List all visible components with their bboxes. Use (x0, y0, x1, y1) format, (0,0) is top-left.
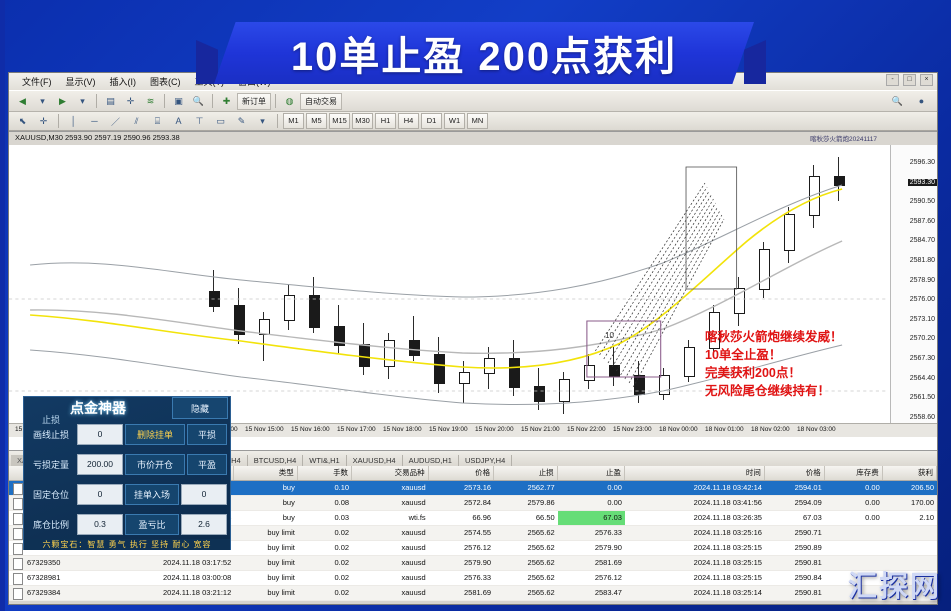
grid-icon[interactable]: ▣ (169, 92, 188, 110)
cell-close-time: 2024.11.18 03:25:15 (625, 541, 765, 555)
candle-body (834, 176, 845, 186)
crosshair-icon[interactable]: ✛ (121, 92, 140, 110)
record-icon[interactable]: ● (912, 92, 931, 110)
cell-open-price: 2574.55 (429, 526, 494, 540)
chevron-down-icon-2[interactable]: ▾ (73, 92, 92, 110)
cell-close-price: 2590.71 (765, 526, 825, 540)
timeframe-m5[interactable]: M5 (306, 113, 327, 129)
timeframe-mn[interactable]: MN (467, 113, 488, 129)
cell-open-time: 2024.11.18 03:17:52 (108, 556, 234, 570)
cell-lots: 0.03 (298, 511, 352, 525)
candle-body (759, 249, 770, 289)
cell-symbol: xauusd (352, 571, 429, 585)
candle-body (259, 319, 270, 335)
cell-open-price: 2573.16 (429, 481, 494, 495)
cell-close-time: 2024.11.18 03:41:56 (625, 496, 765, 510)
table-row[interactable]: 673293502024.11.18 03:17:52buy limit0.02… (9, 556, 937, 571)
draw-separator-2 (277, 114, 278, 128)
cell-lots: 0.10 (298, 481, 352, 495)
candle-body (334, 326, 345, 345)
cursor-icon[interactable]: ⬉ (13, 112, 32, 130)
cell-type: buy limit (234, 541, 298, 555)
time-tick: 15 Nov 16:00 (291, 426, 330, 433)
ea-row-input[interactable]: 0.3 (77, 514, 123, 535)
expert-advisor-icon[interactable]: ◍ (280, 92, 299, 110)
candle-body (634, 375, 645, 394)
cell-take-profit: 2579.90 (558, 541, 625, 555)
candle-body (534, 386, 545, 402)
order-icon (13, 513, 23, 525)
candle-body (509, 358, 520, 388)
ea-row-input[interactable]: 0 (77, 424, 123, 445)
toolbar-separator-2 (164, 94, 165, 108)
time-tick: 15 Nov 22:00 (567, 426, 606, 433)
cell-order: 67328981 (9, 571, 108, 585)
cell-type: buy limit (234, 571, 298, 585)
candle-body (684, 347, 695, 377)
cell-swap: 0.00 (825, 496, 883, 510)
order-icon (13, 543, 23, 555)
zoom-icon[interactable]: 🔍 (189, 92, 208, 110)
crosshair-tool-icon[interactable]: ✛ (34, 112, 53, 130)
fibonacci-icon[interactable]: ⌸ (148, 112, 167, 130)
ea-row-input[interactable]: 200.00 (77, 454, 123, 475)
price-tick: 2576.00 (910, 296, 935, 303)
selection-rectangle (587, 321, 661, 377)
cell-profit: 170.00 (883, 496, 937, 510)
timeframe-h1[interactable]: H1 (375, 113, 396, 129)
ea-panel: 点金神器 隐藏 止损 画线止损0删除挂单平损亏损定量200.00市价开仓平盈固定… (23, 396, 231, 550)
cell-stop-loss: 2565.62 (494, 556, 558, 570)
menu-item-view[interactable]: 显示(V) (59, 74, 103, 89)
cell-close-price: 2590.81 (765, 586, 825, 600)
price-tick: 2564.40 (910, 375, 935, 382)
menu-item-file[interactable]: 文件(F) (15, 74, 59, 89)
time-tick: 15 Nov 17:00 (337, 426, 376, 433)
ea-row-button[interactable]: 挂单入场 (125, 484, 179, 505)
cell-type: buy (234, 481, 298, 495)
chart-tab[interactable]: BTCUSD,H4 (248, 455, 304, 466)
time-tick: 15 Nov 23:00 (613, 426, 652, 433)
cell-swap: 0.00 (825, 481, 883, 495)
cell-symbol: xauusd (352, 496, 429, 510)
rectangle-icon[interactable]: ▭ (211, 112, 230, 130)
cell-symbol: xauusd (352, 526, 429, 540)
annotation-text: 喀秋莎火箭炮继续发威！ 10单全止盈！ 完美获利200点！ 无风险尾仓继续持有！ (705, 328, 843, 400)
cell-swap: 0.00 (825, 511, 883, 525)
vertical-line-icon[interactable]: │ (64, 112, 83, 130)
cell-take-profit: 2583.47 (558, 586, 625, 600)
candle-body (384, 340, 395, 366)
cell-lots: 0.02 (298, 586, 352, 600)
chart-tab[interactable]: WTI&,H1 (303, 455, 346, 466)
cell-lots: 0.02 (298, 541, 352, 555)
cell-close-time: 2024.11.18 03:25:14 (625, 586, 765, 600)
autotrade-button[interactable]: 自动交易 (300, 93, 342, 110)
ea-row-input-secondary[interactable]: 2.6 (181, 514, 227, 535)
site-watermark: 汇探网 (848, 563, 941, 605)
candle-body (309, 295, 320, 328)
time-tick: 15 Nov 21:00 (521, 426, 560, 433)
price-tick: 2590.50 (910, 198, 935, 205)
col-header-sl[interactable]: 止损 (494, 466, 558, 480)
equidistant-channel-icon[interactable]: ⫽ (127, 112, 146, 130)
ea-panel-rows: 画线止损0删除挂单平损亏损定量200.00市价开仓平盈固定仓位0挂单入场0底仓比… (24, 419, 230, 539)
col-header-tp[interactable]: 止盈 (558, 466, 625, 480)
cell-symbol: xauusd (352, 541, 429, 555)
main-toolbar: ◀ ▾ ▶ ▾ ▤ ✛ ≋ ▣ 🔍 ✚ 新订单 ◍ 自动交易 🔍 ● (9, 90, 937, 112)
col-header-type[interactable]: 类型 (234, 466, 298, 480)
cell-symbol: xauusd (352, 481, 429, 495)
ea-row-label: 固定仓位 (27, 488, 75, 501)
timeframe-d1[interactable]: D1 (421, 113, 442, 129)
cell-close-time: 2024.11.18 03:25:15 (625, 571, 765, 585)
ea-row: 固定仓位0挂单入场0 (24, 479, 230, 509)
cell-stop-loss: 2565.62 (494, 571, 558, 585)
candle-body (734, 288, 745, 314)
candle-body (359, 344, 370, 367)
col-header-symbol[interactable]: 交易品种 (352, 466, 429, 480)
col-header-price[interactable]: 价格 (429, 466, 494, 480)
time-tick: 18 Nov 03:00 (797, 426, 836, 433)
cell-swap (825, 526, 883, 540)
table-row[interactable]: 673289812024.11.18 03:00:08buy limit0.02… (9, 571, 937, 586)
cell-open-price: 2576.33 (429, 571, 494, 585)
price-tick: 2561.50 (910, 394, 935, 401)
cell-lots: 0.02 (298, 526, 352, 540)
candle-body (659, 375, 670, 394)
price-axis: 2596.302593.302590.502587.602584.702581.… (890, 145, 937, 437)
cell-close-price: 67.03 (765, 511, 825, 525)
toolbar-separator-4 (275, 94, 276, 108)
arrow-tool-icon[interactable]: ✎ (232, 112, 251, 130)
ea-row-label: 底仓比例 (27, 518, 75, 531)
annotation-line-1: 喀秋莎火箭炮继续发威！ (705, 328, 843, 346)
indicator-icon[interactable]: ≋ (141, 92, 160, 110)
cell-order: 67329384 (9, 586, 108, 600)
candle-body (609, 365, 620, 377)
price-tick: 2578.90 (910, 277, 935, 284)
cell-close-price: 2590.84 (765, 571, 825, 585)
cell-lots: 0.02 (298, 571, 352, 585)
cell-profit: 2.10 (883, 511, 937, 525)
cell-stop-loss: 66.50 (494, 511, 558, 525)
promo-banner-text: 10单止盈 200点获利 (291, 24, 677, 82)
price-tick: 2581.80 (910, 257, 935, 264)
order-icon (13, 498, 23, 510)
time-tick: 15 Nov 20:00 (475, 426, 514, 433)
cell-stop-loss: 2565.62 (494, 526, 558, 540)
cell-open-price: 66.96 (429, 511, 494, 525)
timeframe-m30[interactable]: M30 (352, 113, 373, 129)
col-header-swap[interactable]: 库存费 (825, 466, 883, 480)
col-header-lots[interactable]: 手数 (298, 466, 352, 480)
ea-row: 亏损定量200.00市价开仓平盈 (24, 449, 230, 479)
cell-open-price: 2579.90 (429, 556, 494, 570)
ea-row-button-secondary[interactable]: 平盈 (187, 454, 227, 475)
cell-close-time: 2024.11.18 03:25:16 (625, 526, 765, 540)
cell-profit (883, 541, 937, 555)
cell-open-price: 2576.12 (429, 541, 494, 555)
cell-close-price: 2594.01 (765, 481, 825, 495)
candle-body (559, 379, 570, 402)
cell-take-profit: 2581.69 (558, 556, 625, 570)
toolbar-separator-1 (96, 94, 97, 108)
price-tick: 2558.60 (910, 414, 935, 421)
cell-open-time: 2024.11.18 03:00:08 (108, 571, 234, 585)
chart-corner-watermark: 喀秋莎火箭炮20241117 (810, 133, 877, 143)
menu-item-charts[interactable]: 图表(C) (143, 74, 188, 89)
toolbar-right-icons: 🔍 ● (888, 92, 931, 110)
price-tick: 2587.60 (910, 218, 935, 225)
cell-close-price: 2590.81 (765, 556, 825, 570)
maximize-button[interactable]: □ (903, 74, 916, 86)
order-icon (13, 528, 23, 540)
exit-zone-box (686, 167, 737, 289)
ea-row-button-secondary[interactable]: 平损 (187, 424, 227, 445)
cell-symbol: xauusd (352, 586, 429, 600)
price-tick: 2573.10 (910, 316, 935, 323)
cell-type: buy (234, 511, 298, 525)
candle-body (809, 176, 820, 216)
cell-type: buy limit (234, 556, 298, 570)
chart-header-text: XAUUSD,M30 2593.90 2597.19 2590.96 2593.… (15, 133, 180, 142)
cell-type: buy limit (234, 526, 298, 540)
new-order-button[interactable]: 新订单 (237, 93, 271, 110)
cell-take-profit: 2576.12 (558, 571, 625, 585)
time-tick: 18 Nov 02:00 (751, 426, 790, 433)
time-tick: 15 Nov 15:00 (245, 426, 284, 433)
search-icon[interactable]: 🔍 (888, 92, 907, 110)
ea-row-button[interactable]: 盈亏比 (125, 514, 179, 535)
time-tick: 15 Nov 19:00 (429, 426, 468, 433)
timeframe-m1[interactable]: M1 (283, 113, 304, 129)
cell-open-time: 2024.11.18 03:21:12 (108, 586, 234, 600)
candle-body (584, 365, 595, 381)
drawing-toolbar: ⬉ ✛ │ ─ ／ ⫽ ⌸ A ⊤ ▭ ✎ ▾ M1 M5 M15 M30 H1… (9, 112, 937, 131)
window-controls: - □ × (886, 74, 933, 86)
cell-lots: 0.08 (298, 496, 352, 510)
cell-type: buy (234, 496, 298, 510)
left-blue-strip (0, 0, 5, 611)
cell-lots: 0.02 (298, 556, 352, 570)
candle-body (434, 354, 445, 384)
ea-row-button[interactable]: 删除挂单 (125, 424, 185, 445)
candle-body (484, 358, 495, 374)
ea-panel-footer: 六颗宝石：智慧 勇气 执行 坚持 耐心 宽容 (24, 539, 230, 550)
cell-stop-loss: 2579.86 (494, 496, 558, 510)
cell-close-time: 2024.11.18 03:42:14 (625, 481, 765, 495)
cell-order: 67329350 (9, 556, 108, 570)
ea-row: 底仓比例0.3盈亏比2.6 (24, 509, 230, 539)
cell-stop-loss: 2562.77 (494, 481, 558, 495)
price-tick: 2567.30 (910, 355, 935, 362)
chevron-down-icon[interactable]: ▾ (33, 92, 52, 110)
cell-stop-loss: 2565.62 (494, 586, 558, 600)
draw-separator-1 (58, 114, 59, 128)
timeframe-w1[interactable]: W1 (444, 113, 465, 129)
cell-take-profit: 0.00 (558, 481, 625, 495)
cell-stop-loss: 2565.62 (494, 541, 558, 555)
cell-take-profit: 0.00 (558, 496, 625, 510)
horizontal-line-icon[interactable]: ─ (85, 112, 104, 130)
annotation-line-2: 10单全止盈！ (705, 346, 843, 364)
ea-hide-button[interactable]: 隐藏 (172, 397, 228, 419)
chart-area: XAUUSD,M30 2593.90 2597.19 2590.96 2593.… (9, 131, 937, 450)
cell-profit (883, 526, 937, 540)
chart-tab[interactable]: AUDUSD,H1 (403, 455, 459, 466)
chart-tab[interactable]: USDJPY,H4 (459, 455, 512, 466)
cell-type: buy limit (234, 586, 298, 600)
menu-item-insert[interactable]: 插入(I) (103, 74, 144, 89)
trade-count-marker: 10 (605, 331, 614, 340)
cell-close-time: 2024.11.18 03:25:15 (625, 556, 765, 570)
price-tick: 2584.70 (910, 237, 935, 244)
chart-tab[interactable]: XAUUSD,H4 (347, 455, 403, 466)
price-tick: 2570.20 (910, 335, 935, 342)
order-icon (13, 483, 23, 495)
ea-row-input[interactable]: 0 (77, 484, 123, 505)
bollinger-upper-band (30, 185, 842, 297)
candle-body (234, 305, 245, 335)
table-row[interactable]: 673293842024.11.18 03:21:12buy limit0.02… (9, 586, 937, 601)
cell-symbol: wti.fs (352, 511, 429, 525)
chart-header: XAUUSD,M30 2593.90 2597.19 2590.96 2593.… (9, 132, 937, 145)
close-button[interactable]: × (920, 74, 933, 86)
ea-row-label: 亏损定量 (27, 458, 75, 471)
candle-body (409, 340, 420, 356)
minimize-button[interactable]: - (886, 74, 899, 86)
label-icon[interactable]: ⊤ (190, 112, 209, 130)
candle-body (784, 214, 795, 251)
time-tick: 18 Nov 00:00 (659, 426, 698, 433)
cell-swap (825, 541, 883, 555)
order-icon (13, 588, 23, 600)
annotation-line-3: 完美获利200点！ (705, 364, 843, 382)
order-icon (13, 558, 23, 570)
cell-open-price: 2581.69 (429, 586, 494, 600)
timeframe-h4[interactable]: H4 (398, 113, 419, 129)
toolbar-separator-3 (212, 94, 213, 108)
col-header-ctime[interactable]: 时间 (625, 466, 765, 480)
col-header-cprice[interactable]: 价格 (765, 466, 825, 480)
cell-take-profit: 67.03 (558, 511, 625, 525)
cell-close-time: 2024.11.18 03:26:35 (625, 511, 765, 525)
forward-icon[interactable]: ▶ (53, 92, 72, 110)
ea-panel-tag: 止损 (42, 413, 60, 426)
mt4-window: 文件(F) 显示(V) 插入(I) 图表(C) 工具(T) 窗口(W) - □ … (8, 72, 938, 605)
time-tick: 15 Nov 18:00 (383, 426, 422, 433)
cell-close-price: 2594.09 (765, 496, 825, 510)
ea-row-label: 画线止损 (27, 428, 75, 441)
annotation-line-4: 无风险尾仓继续持有！ (705, 382, 843, 400)
candle-body (284, 295, 295, 321)
bar-chart-icon[interactable]: ▤ (101, 92, 120, 110)
col-header-profit[interactable]: 获利 (883, 466, 937, 480)
cell-profit: 206.50 (883, 481, 937, 495)
cell-close-price: 2590.89 (765, 541, 825, 555)
candle-body (209, 291, 220, 307)
current-price-tick: 2593.30 (908, 179, 937, 186)
ea-row-input-secondary[interactable]: 0 (181, 484, 227, 505)
chevron-down-icon-3[interactable]: ▾ (253, 112, 272, 130)
new-order-icon[interactable]: ✚ (217, 92, 236, 110)
time-tick: 18 Nov 01:00 (705, 426, 744, 433)
candle-body (459, 372, 470, 384)
cell-symbol: xauusd (352, 556, 429, 570)
cell-take-profit: 2576.33 (558, 526, 625, 540)
timeframe-m15[interactable]: M15 (329, 113, 350, 129)
ea-row-button[interactable]: 市价开仓 (125, 454, 185, 475)
promo-banner: 10单止盈 200点获利 (214, 22, 754, 84)
trendline-icon[interactable]: ／ (106, 112, 125, 130)
text-icon[interactable]: A (169, 112, 188, 130)
cell-open-price: 2572.84 (429, 496, 494, 510)
back-icon[interactable]: ◀ (13, 92, 32, 110)
order-icon (13, 573, 23, 585)
price-tick: 2596.30 (910, 159, 935, 166)
